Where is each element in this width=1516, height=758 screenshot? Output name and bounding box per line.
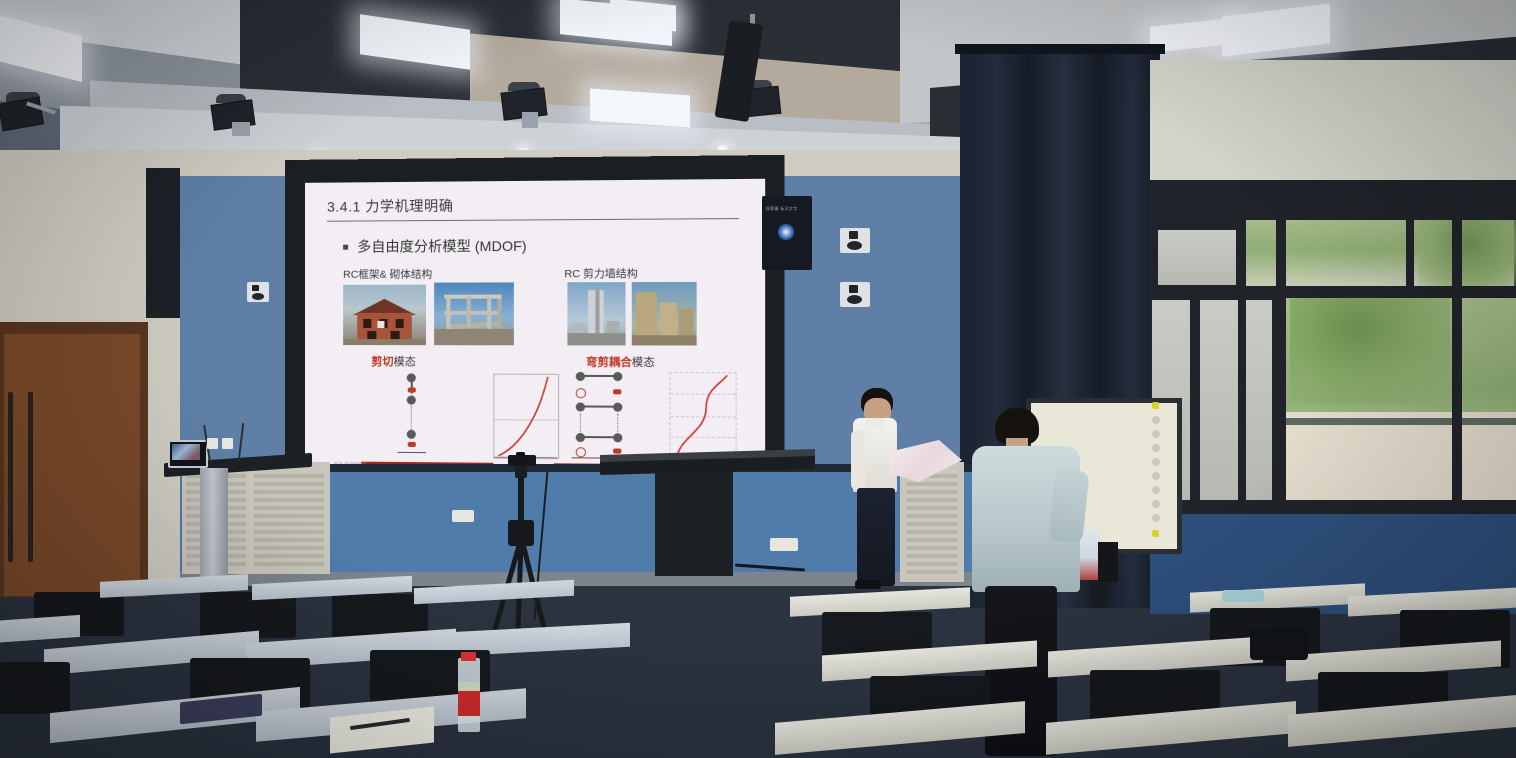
spotlight-stem bbox=[232, 122, 250, 136]
wall-data-plate[interactable] bbox=[452, 510, 474, 522]
classroom-photo: 投影幕 标识文字 3.4.1 力学机理明确 多自由度分析模型 (MDOF) RC… bbox=[0, 0, 1516, 758]
plastic-hinge-icon bbox=[408, 442, 416, 447]
hinge-circle-icon bbox=[576, 388, 586, 398]
lectern-monitor[interactable] bbox=[168, 440, 208, 468]
mode-shape-curve bbox=[494, 375, 558, 459]
presenter-arm bbox=[851, 430, 865, 490]
mdof-shear-model bbox=[390, 373, 451, 456]
cloth-on-desk bbox=[1222, 590, 1264, 602]
whiteboard-corner-marker bbox=[1152, 530, 1159, 537]
slide-title-rule bbox=[327, 218, 739, 222]
door-handle[interactable] bbox=[28, 392, 33, 562]
window-glass-exterior bbox=[1246, 218, 1406, 290]
wall-data-plate[interactable] bbox=[770, 538, 798, 551]
teaching-console bbox=[655, 468, 733, 576]
door[interactable] bbox=[4, 334, 140, 596]
dashed-column bbox=[617, 414, 618, 434]
curtain-rail bbox=[955, 44, 1165, 54]
mode-shape-curve bbox=[670, 373, 735, 460]
beam-link bbox=[580, 436, 617, 438]
coupled-mode-plot bbox=[669, 372, 736, 461]
whiteboard-toolbar-button[interactable] bbox=[1152, 416, 1160, 424]
whiteboard-toolbar-button[interactable] bbox=[1152, 472, 1160, 480]
window-glass-interior bbox=[1158, 230, 1236, 285]
photo-shearwall-highrise bbox=[632, 282, 697, 346]
camera-lens-icon bbox=[516, 452, 525, 457]
monitor-screen-content bbox=[172, 444, 200, 460]
foliage bbox=[1290, 296, 1450, 404]
shear-mode-plot bbox=[493, 374, 559, 460]
whiteboard-toolbar-button[interactable] bbox=[1152, 444, 1160, 452]
window-transom bbox=[1150, 212, 1516, 220]
cabinet-louver bbox=[254, 470, 324, 570]
window-transom bbox=[1150, 286, 1516, 298]
chair[interactable] bbox=[0, 662, 70, 714]
equipment-logo-icon bbox=[778, 224, 794, 240]
mode-label-left: 剪切模态 bbox=[371, 353, 416, 369]
photo-highrise-tower bbox=[567, 282, 625, 345]
exterior-parapet-band bbox=[1286, 418, 1516, 425]
bottle-label-band bbox=[458, 682, 480, 691]
mode-label-left-rest: 模态 bbox=[394, 356, 416, 368]
slide-bullet-text: 多自由度分析模型 (MDOF) bbox=[357, 236, 526, 257]
presenter-collar bbox=[866, 418, 884, 427]
slide-title: 3.4.1 力学机理明确 bbox=[327, 196, 453, 217]
mode-label-right-rest: 模态 bbox=[632, 357, 655, 369]
mdof-coupled-model bbox=[572, 372, 645, 460]
dashed-column bbox=[580, 414, 581, 434]
exterior-parapet-wall bbox=[1286, 412, 1516, 512]
beam-link bbox=[580, 405, 617, 407]
whiteboard-toolbar-button[interactable] bbox=[1152, 458, 1160, 466]
desk[interactable] bbox=[0, 615, 80, 643]
ground-support bbox=[398, 452, 426, 453]
door-handle[interactable] bbox=[8, 392, 13, 562]
bullet-square-icon bbox=[343, 245, 348, 250]
whiteboard-toolbar-button[interactable] bbox=[1152, 500, 1160, 508]
whiteboard-toolbar-button[interactable] bbox=[1152, 486, 1160, 494]
window-glass-door[interactable] bbox=[1200, 300, 1272, 500]
equipment-panel-label: 投影幕 标识文字 bbox=[766, 206, 810, 212]
dashed-column bbox=[411, 406, 412, 430]
bag[interactable] bbox=[1250, 628, 1308, 660]
column-heading-left: RC框架& 砌体结构 bbox=[343, 266, 432, 281]
beam-link bbox=[580, 375, 617, 377]
mass-node bbox=[407, 430, 416, 439]
wall-switch-plate[interactable] bbox=[207, 438, 218, 449]
presenter-trousers bbox=[857, 488, 895, 586]
mode-label-left-accent: 剪切 bbox=[371, 356, 393, 368]
whiteboard-toolbar-button[interactable] bbox=[1152, 514, 1160, 522]
wall-speaker bbox=[840, 282, 870, 307]
hinge-circle-icon bbox=[576, 447, 586, 457]
lectern-column bbox=[200, 468, 228, 586]
bottle-cap bbox=[461, 652, 476, 661]
foliage bbox=[1418, 214, 1516, 290]
plastic-hinge-icon bbox=[613, 448, 621, 453]
spotlight-stem bbox=[522, 112, 538, 128]
presenter-shoe bbox=[855, 580, 881, 589]
mass-node bbox=[407, 396, 416, 405]
wall-speaker bbox=[840, 228, 870, 253]
cabinet-louver bbox=[906, 470, 958, 578]
whiteboard-corner-marker bbox=[1152, 402, 1159, 409]
side-equipment-box bbox=[1098, 542, 1118, 582]
projection-screen: 投影幕 标识文字 3.4.1 力学机理明确 多自由度分析模型 (MDOF) RC… bbox=[285, 155, 784, 495]
tripod-center-column bbox=[518, 476, 524, 524]
photo-brick-house bbox=[343, 285, 426, 346]
plastic-hinge-icon bbox=[408, 387, 416, 392]
whiteboard-toolbar-button[interactable] bbox=[1152, 430, 1160, 438]
plastic-hinge-icon bbox=[613, 389, 621, 394]
slide-content: 3.4.1 力学机理明确 多自由度分析模型 (MDOF) RC框架& 砌体结构 bbox=[305, 179, 765, 476]
wall-speaker bbox=[247, 282, 269, 302]
mode-label-right-accent: 弯剪耦合 bbox=[586, 357, 632, 369]
mode-label-right: 弯剪耦合模态 bbox=[586, 354, 655, 370]
photo-rc-frame bbox=[434, 282, 514, 345]
wall-switch-plate[interactable] bbox=[222, 438, 233, 449]
column-heading-right: RC 剪力墙结构 bbox=[564, 266, 637, 282]
